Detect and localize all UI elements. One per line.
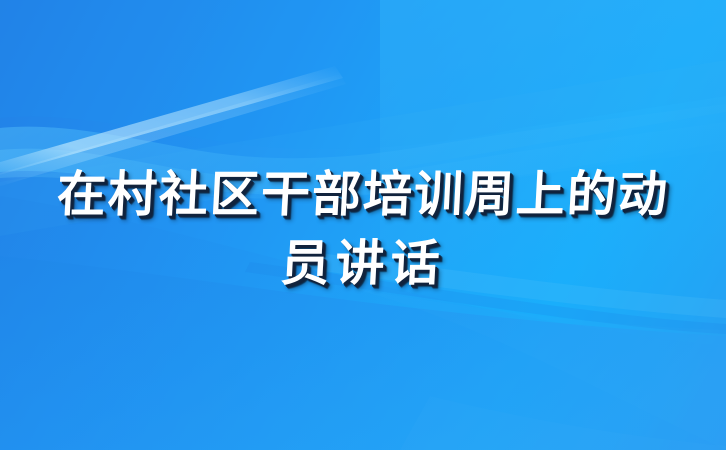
title-line-1: 在村社区干部培训周上的动 [0, 160, 726, 229]
title-banner: 在村社区干部培训周上的动 员讲话 [0, 0, 726, 450]
page-title: 在村社区干部培训周上的动 员讲话 [0, 160, 726, 298]
title-line-2: 员讲话 [0, 229, 726, 298]
